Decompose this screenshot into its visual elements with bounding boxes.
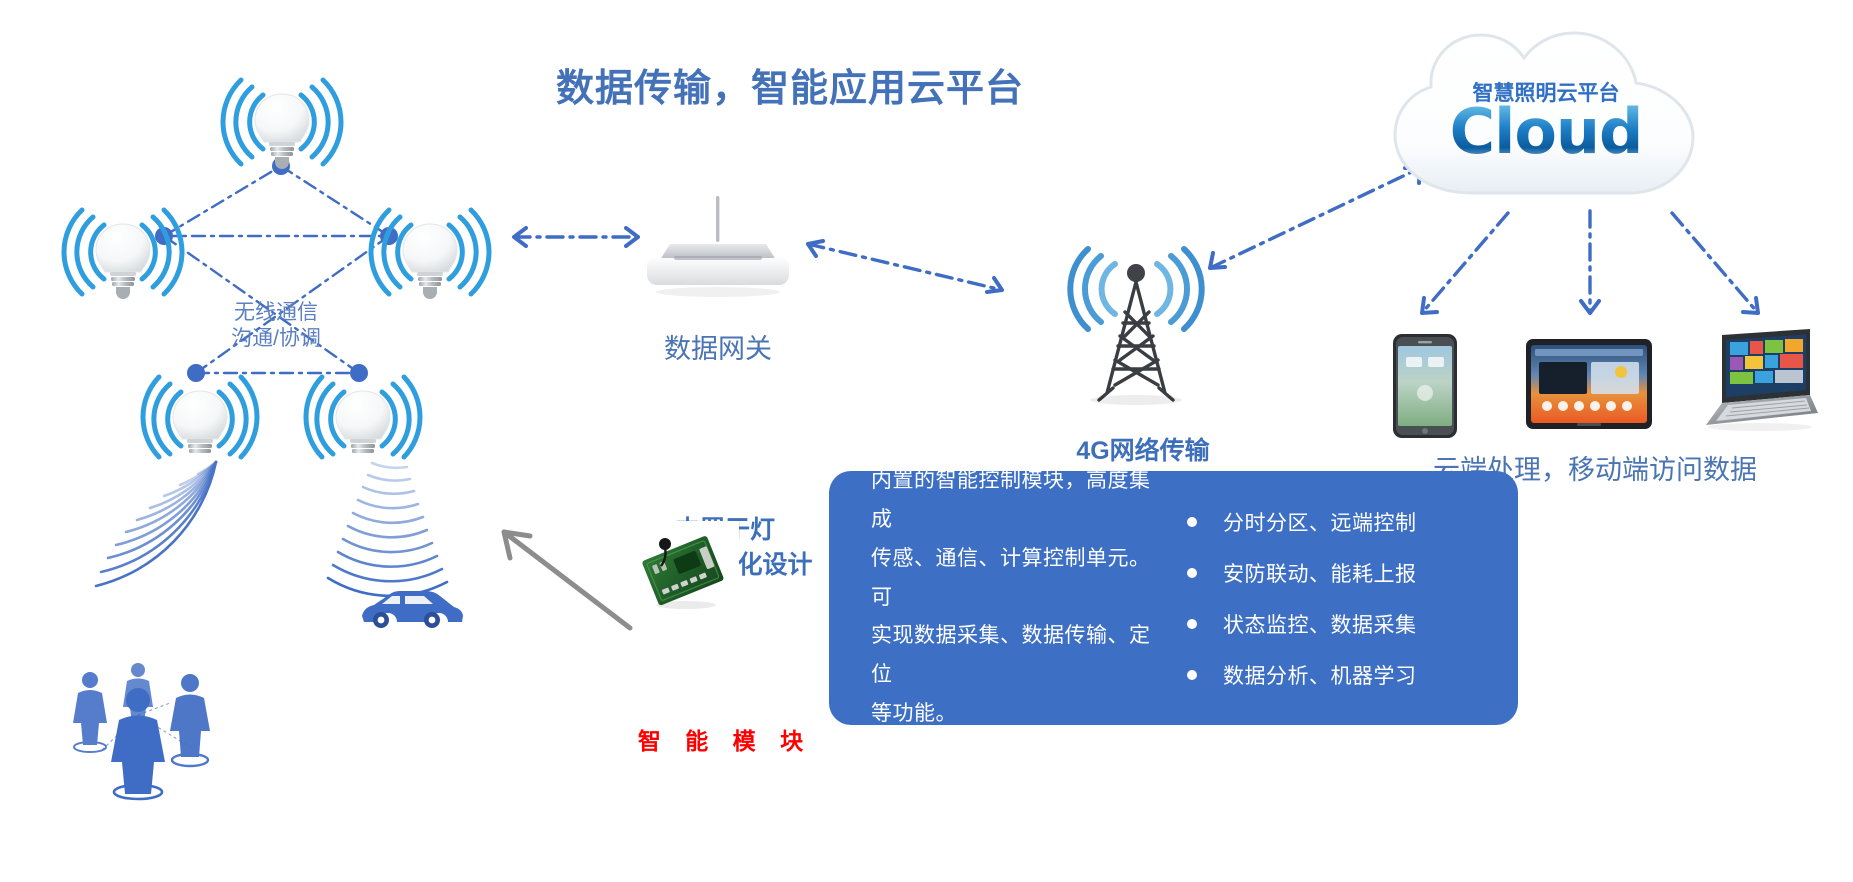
bullet-label: 分时分区、远端控制 <box>1223 507 1417 537</box>
bullet-item: 状态监控、数据采集 <box>1187 609 1518 639</box>
bullet-dot-icon <box>1187 619 1197 629</box>
smart-lamp-icon-bottom-left <box>132 358 268 458</box>
info-panel: 内置的智能控制模块，高度集成 传感、通信、计算控制单元。可 实现数据采集、数据传… <box>829 471 1518 725</box>
tablet-icon <box>1525 338 1653 430</box>
mesh-label: 无线通信 沟通/协调 <box>196 300 356 353</box>
bullet-item: 分时分区、远端控制 <box>1187 507 1518 537</box>
smart-lamp-icon-right <box>362 205 498 305</box>
info-para-line-2: 传感、通信、计算控制单元。可 <box>871 540 1169 618</box>
smart-lamp-icon-top <box>214 75 350 175</box>
bullet-label: 状态监控、数据采集 <box>1223 609 1417 639</box>
cloud-brand-text: Cloud <box>1381 95 1711 168</box>
arrow-mesh-to-gateway <box>498 222 658 252</box>
smartphone-icon <box>1392 333 1460 441</box>
mesh-label-line1: 无线通信 <box>196 300 356 326</box>
page-title: 数据传输，智能应用云平台 <box>556 57 996 112</box>
cloud-platform: 智慧照明云平台 Cloud <box>1381 23 1711 208</box>
smart-lamp-icon-bottom-right <box>295 358 431 458</box>
info-panel-bullets: 分时分区、远端控制 安防联动、能耗上报 状态监控、数据采集 数据分析、机器学习 <box>1169 507 1518 690</box>
info-para-line-4: 等功能。 <box>871 695 1169 734</box>
bullet-item: 安防联动、能耗上报 <box>1187 558 1518 588</box>
mesh-label-line2: 沟通/协调 <box>196 326 356 352</box>
bullet-dot-icon <box>1187 670 1197 680</box>
bullet-label: 安防联动、能耗上报 <box>1223 558 1417 588</box>
info-para-line-1: 内置的智能控制模块，高度集成 <box>871 462 1169 540</box>
pcb-module-photo <box>626 521 739 617</box>
arrows-cloud-to-devices <box>1400 195 1800 345</box>
bullet-dot-icon <box>1187 568 1197 578</box>
info-panel-paragraph: 内置的智能控制模块，高度集成 传感、通信、计算控制单元。可 实现数据采集、数据传… <box>829 462 1169 734</box>
car-icon <box>358 588 468 630</box>
diagram-canvas: 数据传输，智能应用云平台 <box>0 0 1853 882</box>
bullet-item: 数据分析、机器学习 <box>1187 660 1518 690</box>
bullet-label: 数据分析、机器学习 <box>1223 660 1417 690</box>
people-group-icon <box>60 655 250 785</box>
gateway-label: 数据网关 <box>618 327 818 366</box>
laptop-icon <box>1692 327 1820 431</box>
bullet-dot-icon <box>1187 517 1197 527</box>
info-para-line-3: 实现数据采集、数据传输、定位 <box>871 617 1169 695</box>
smart-lamp-icon-left <box>55 205 191 305</box>
wifi-router-icon <box>648 196 788 304</box>
pcb-board-icon <box>626 521 739 617</box>
module-caption: 智 能 模 块 <box>600 722 850 756</box>
arrow-gateway-to-tower <box>790 228 1025 308</box>
